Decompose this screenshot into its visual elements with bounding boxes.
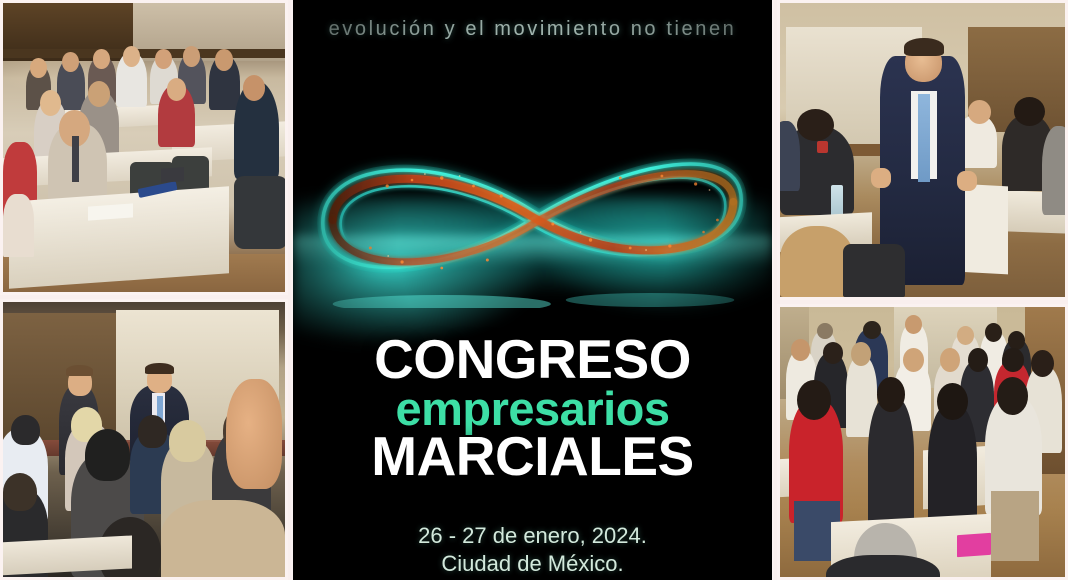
poster-tagline: evolución y el movimiento no tienen — [293, 18, 772, 41]
photo-collage: evolución y el movimiento no tienen — [0, 0, 1068, 580]
photo-top-right — [777, 0, 1068, 300]
photo-bottom-left — [0, 299, 288, 580]
photo-bottom-right — [777, 304, 1068, 580]
poster-date-block: 26 - 27 de enero, 2024. Ciudad de México… — [293, 522, 772, 578]
poster-title-marciales: MARCIALES — [293, 429, 772, 484]
event-poster: evolución y el movimiento no tienen — [291, 0, 774, 580]
poster-title-congreso: CONGRESO — [293, 332, 772, 387]
poster-title-block: CONGRESO empresarios MARCIALES — [293, 332, 772, 484]
photo-bottom-left-image — [3, 302, 285, 577]
poster-city: Ciudad de México. — [293, 550, 772, 578]
photo-top-right-image — [780, 3, 1065, 297]
photo-bottom-right-image — [780, 307, 1065, 577]
photo-top-left-image — [3, 3, 285, 292]
infinity-symbol-icon — [293, 128, 772, 308]
photo-top-left — [0, 0, 288, 295]
poster-date: 26 - 27 de enero, 2024. — [293, 522, 772, 550]
